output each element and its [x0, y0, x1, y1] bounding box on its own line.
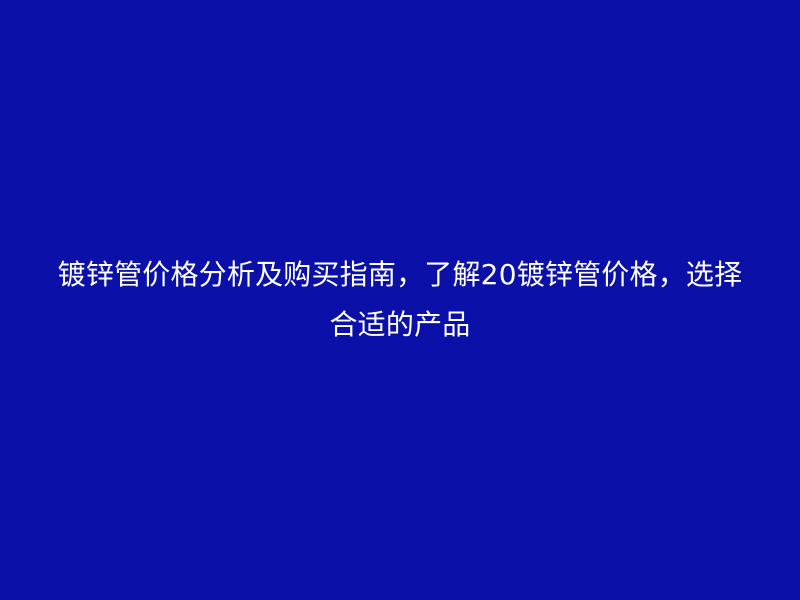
headline-block: 镀锌管价格分析及购买指南，了解20镀锌管价格，选择合适的产品 [50, 250, 750, 350]
page-title: 镀锌管价格分析及购买指南，了解20镀锌管价格，选择合适的产品 [50, 250, 750, 350]
slide-canvas: 镀锌管价格分析及购买指南，了解20镀锌管价格，选择合适的产品 [0, 0, 800, 600]
